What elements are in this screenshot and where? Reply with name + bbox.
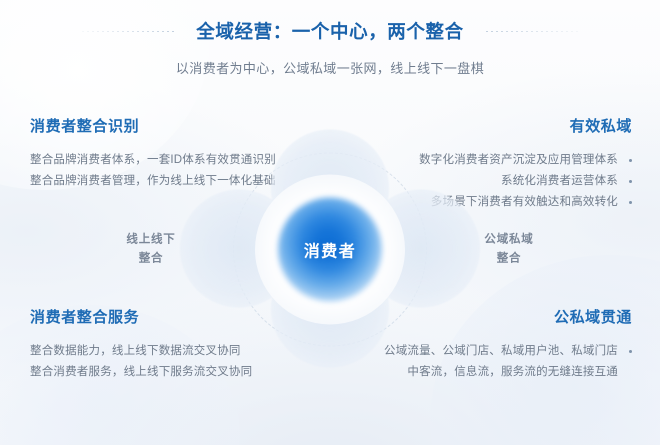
dotted-rule-left-icon (82, 31, 174, 32)
quadrant-line: 中客流，信息流，服务流的无缝连接互通 (332, 362, 632, 383)
page-subtitle: 以消费者为中心，公域私域一张网，线上线下一盘棋 (0, 58, 660, 77)
side-label-public-private-integration: 公域私域 整合 (466, 230, 552, 268)
side-label-online-offline-integration: 线上线下 整合 (108, 230, 194, 268)
quadrant-title-consumer-identification: 消费者整合识别 (30, 115, 330, 136)
infographic-canvas: 全域经营：一个中心，两个整合 以消费者为中心，公域私域一张网，线上线下一盘棋 消… (0, 0, 660, 445)
side-label-line1: 线上线下 (126, 233, 175, 245)
center-diagram: 消费者 线上线下 整合 公域私域 整合 (180, 142, 480, 357)
side-label-line2: 整合 (108, 249, 194, 268)
dotted-rule-right-icon (486, 31, 578, 32)
quadrant-line: 整合消费者服务，线上线下服务流交叉协同 (30, 362, 330, 383)
quadrant-title-effective-private-domain: 有效私域 (332, 115, 632, 136)
header: 全域经营：一个中心，两个整合 以消费者为中心，公域私域一张网，线上线下一盘棋 (0, 18, 660, 77)
side-label-line1: 公域私域 (484, 233, 533, 245)
center-label-consumer: 消费者 (304, 237, 357, 261)
side-label-line2: 整合 (466, 249, 552, 268)
title-row: 全域经营：一个中心，两个整合 (0, 18, 660, 44)
page-title: 全域经营：一个中心，两个整合 (196, 18, 463, 44)
